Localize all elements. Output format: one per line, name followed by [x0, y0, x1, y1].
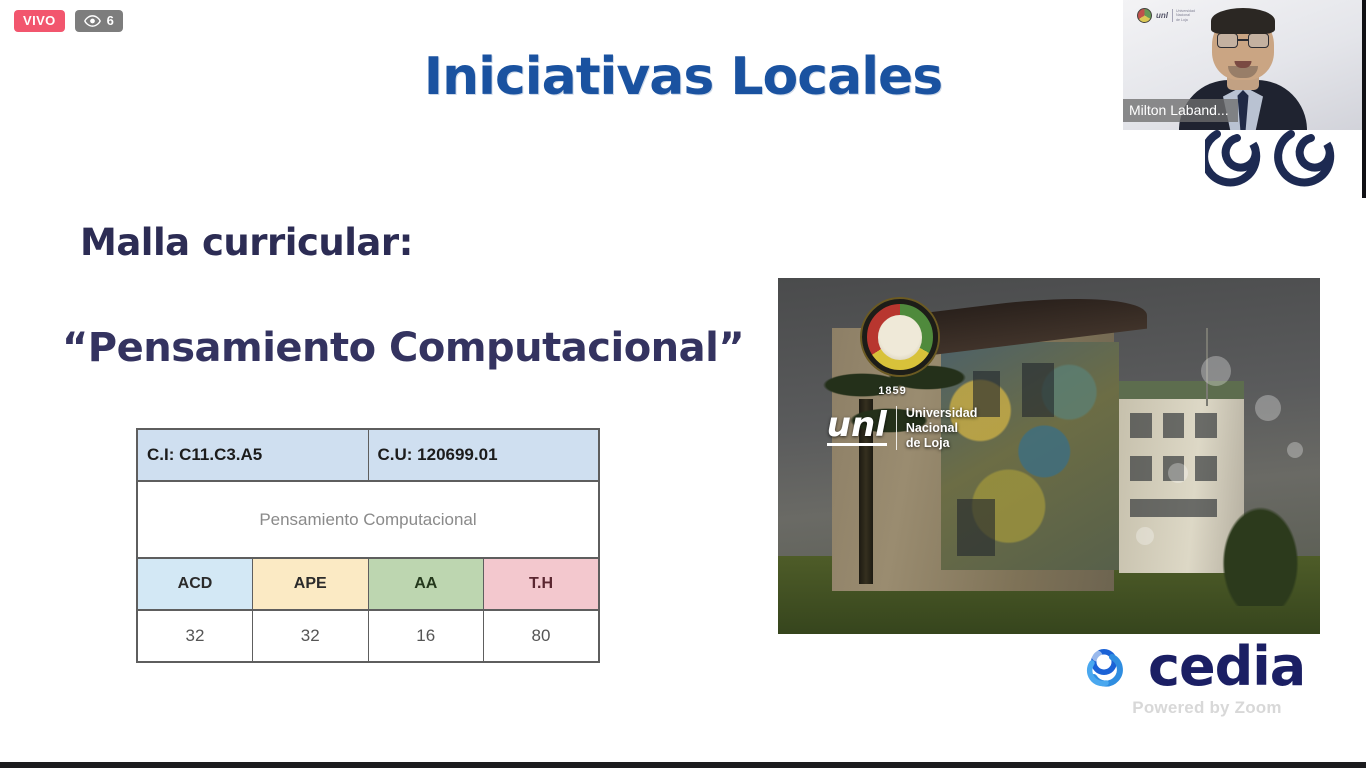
photo-roof-secondary [1119, 381, 1244, 399]
photo-shrub [1217, 499, 1304, 606]
eye-icon [84, 15, 101, 27]
curriculum-table: C.I: C11.C3.A5 C.U: 120699.01 Pensamient… [136, 428, 600, 663]
photo-window [1022, 363, 1055, 416]
unl-fullname-line1: Universidad [906, 406, 978, 420]
cell-course-code-cu: C.U: 120699.01 [368, 429, 599, 481]
cedia-wordmark: cedia [1148, 640, 1305, 694]
cedia-logo-row: cedia [1082, 640, 1332, 694]
glasses-lens-left [1217, 33, 1238, 48]
unl-fullname-line2: Nacional [906, 421, 958, 435]
person-hair [1211, 8, 1275, 34]
cell-category-ape: APE [253, 558, 369, 610]
unl-acronym: unl [827, 410, 887, 446]
watermark-acronym: unl [1156, 11, 1168, 20]
table-row-values: 32 32 16 80 [137, 610, 599, 662]
photo-window [1195, 413, 1217, 438]
cell-value-acd: 32 [137, 610, 253, 662]
unl-crest-icon [862, 299, 938, 375]
unl-founding-year: 1859 [878, 385, 906, 397]
unl-crest-icon-small [1137, 8, 1152, 23]
cedia-branding: cedia Powered by Zoom [1082, 640, 1332, 718]
unl-fullname-line3: de Loja [906, 436, 950, 450]
viewer-count-badge: 6 [75, 10, 123, 32]
section-heading-malla: Malla curricular: [80, 221, 413, 264]
participant-name-label: Milton Laband... [1123, 99, 1238, 122]
right-edge-strip [1362, 0, 1366, 198]
photo-window [1130, 499, 1217, 517]
person-glasses [1217, 33, 1269, 48]
photo-bokeh [1201, 356, 1231, 386]
photo-window [1163, 413, 1185, 438]
bottom-bar [0, 762, 1366, 768]
table-row-codes: C.I: C11.C3.A5 C.U: 120699.01 [137, 429, 599, 481]
participant-video-tile[interactable]: unl UniversidadNacionalde Loja Milton La… [1123, 0, 1363, 130]
photo-window [1130, 413, 1152, 438]
glasses-lens-right [1248, 33, 1269, 48]
table-row-subject: Pensamiento Computacional [137, 481, 599, 558]
glasses-bridge [1238, 39, 1248, 41]
unl-crest-center [878, 315, 923, 360]
photo-window [1195, 456, 1217, 481]
cell-course-code-ci: C.I: C11.C3.A5 [137, 429, 368, 481]
live-badge: VIVO [14, 10, 65, 32]
stream-status-badges: VIVO 6 [14, 10, 123, 32]
table-row-categories: ACD APE AA T.H [137, 558, 599, 610]
photo-bokeh [1136, 527, 1154, 545]
cell-category-th: T.H [484, 558, 600, 610]
cell-value-ape: 32 [253, 610, 369, 662]
cell-value-th: 80 [484, 610, 600, 662]
cell-value-aa: 16 [368, 610, 484, 662]
section-heading-pensamiento: “Pensamiento Computacional” [62, 325, 744, 371]
viewer-count-value: 6 [107, 14, 114, 27]
cell-category-acd: ACD [137, 558, 253, 610]
cell-subject-name: Pensamiento Computacional [137, 481, 599, 558]
powered-by-label: Powered by Zoom [1082, 698, 1332, 718]
cedia-mark-icon [1082, 643, 1138, 691]
unl-fullname: Universidad Nacional de Loja [896, 406, 978, 450]
decorative-swirl-graphic [1205, 128, 1355, 190]
photo-window [957, 499, 995, 556]
unl-wordmark: unl Universidad Nacional de Loja [827, 406, 978, 450]
campus-building-photo: 1859 unl Universidad Nacional de Loja [778, 278, 1320, 634]
photo-window [1130, 456, 1152, 481]
cell-category-aa: AA [368, 558, 484, 610]
